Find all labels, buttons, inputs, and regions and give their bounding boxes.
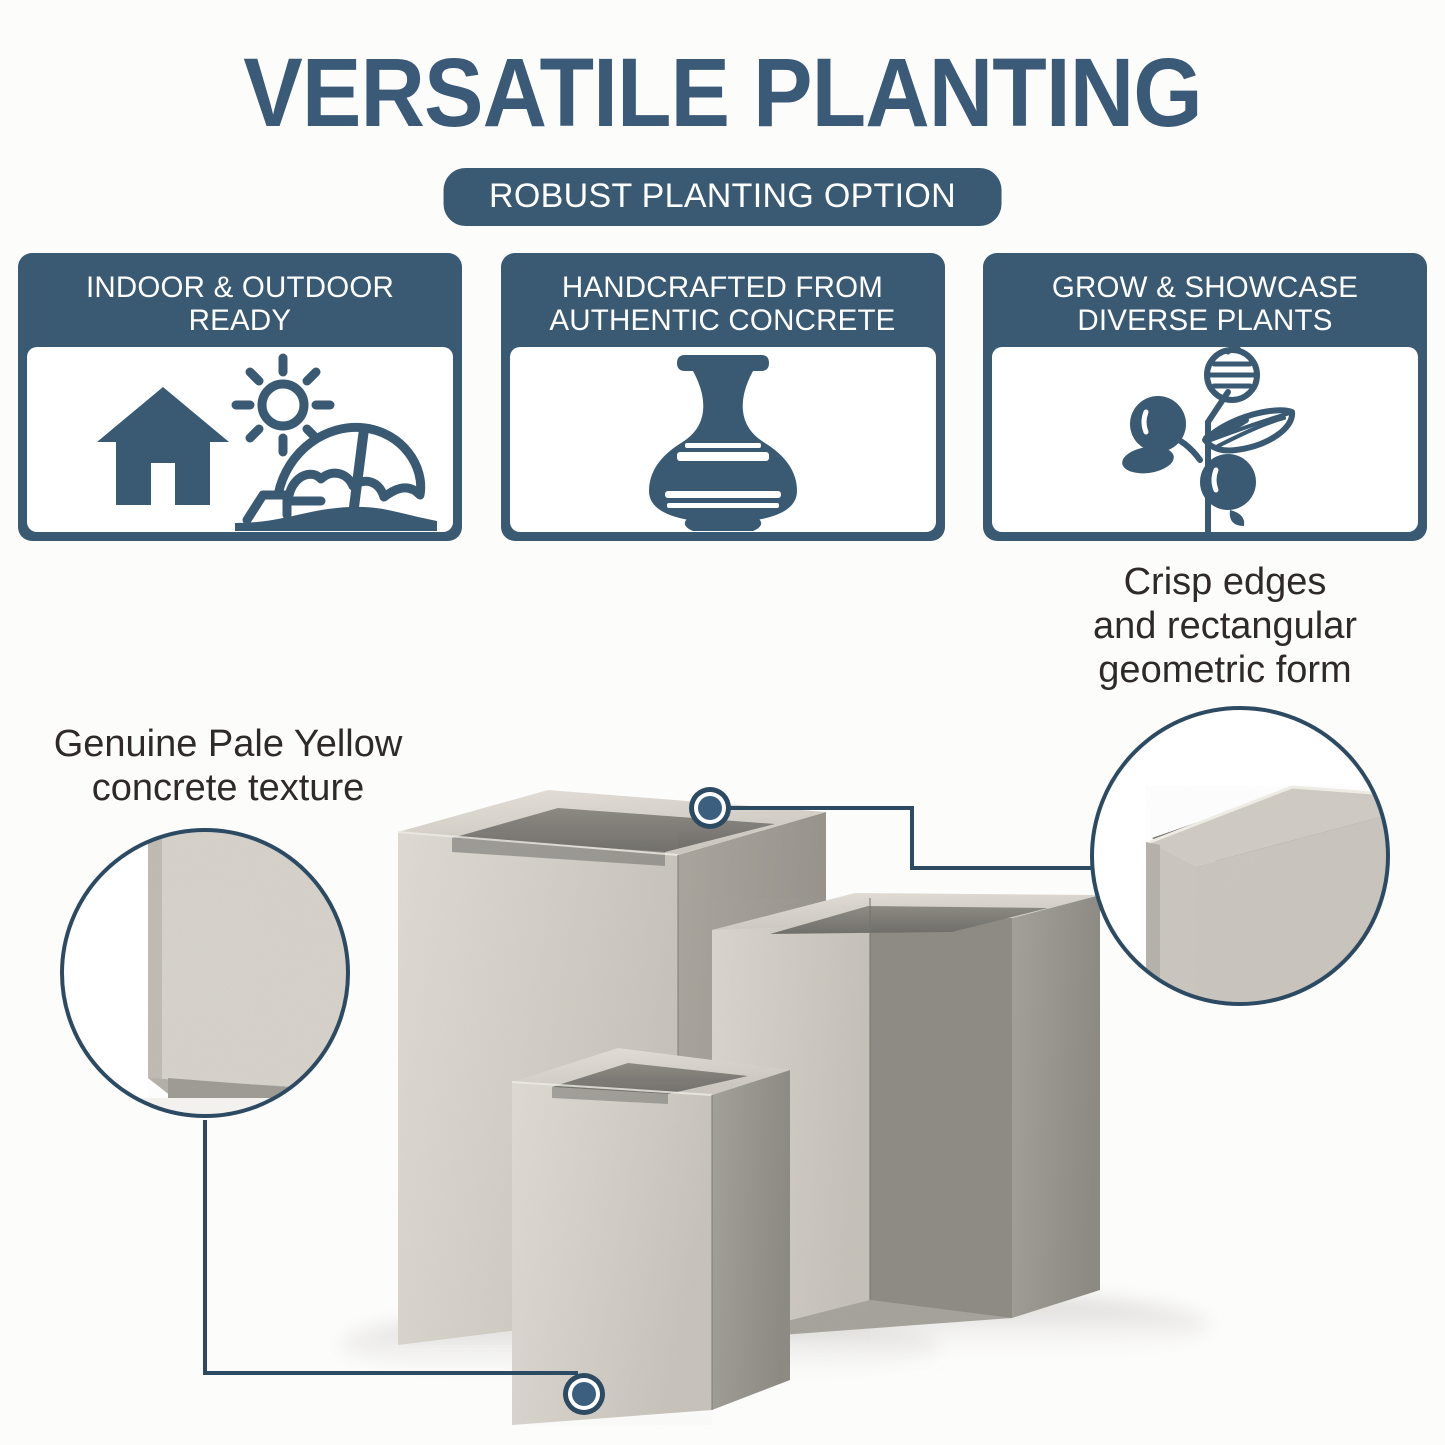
marker-top-rim[interactable] [689,787,731,829]
product-scene [0,0,1445,1445]
magnifier-left-content [62,820,358,1128]
magnifier-right-content [1090,706,1406,1016]
planter-small [512,1048,790,1425]
infographic-stage: VERSATILE PLANTING ROBUST PLANTING OPTIO… [0,0,1445,1445]
marker-bottom-face[interactable] [563,1373,605,1415]
